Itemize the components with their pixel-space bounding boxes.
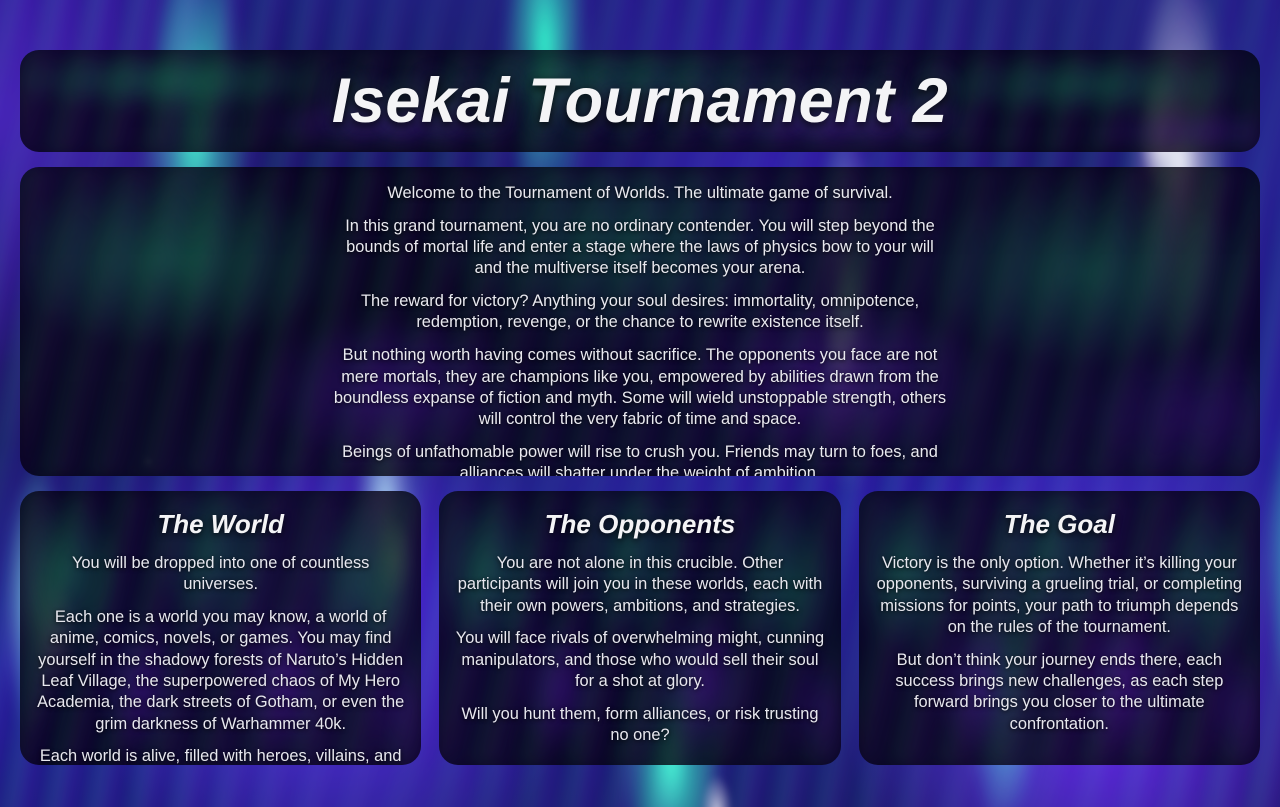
card-title: The World [157,509,284,540]
intro-panel: Welcome to the Tournament of Worlds. The… [20,167,1260,476]
card-paragraph: Will you hunt them, form alliances, or r… [453,704,826,747]
card-paragraph: But don’t think your journey ends there,… [873,650,1246,735]
intro-paragraph: The reward for victory? Anything your so… [332,291,948,334]
card-paragraph: Each one is a world you may know, a worl… [34,607,407,735]
intro-paragraph: Welcome to the Tournament of Worlds. The… [332,183,948,204]
card-title: The Goal [1004,509,1115,540]
card-the-opponents: The Opponents You are not alone in this … [439,491,840,765]
page-content: Isekai Tournament 2 Welcome to the Tourn… [0,0,1280,807]
card-paragraph: You are not alone in this crucible. Othe… [453,553,826,617]
header-panel: Isekai Tournament 2 [20,50,1260,152]
card-paragraph: You will be dropped into one of countles… [34,553,407,596]
page-title: Isekai Tournament 2 [332,65,948,137]
info-cards-row: The World You will be dropped into one o… [20,491,1260,765]
card-the-world: The World You will be dropped into one o… [20,491,421,765]
intro-paragraph: But nothing worth having comes without s… [332,345,948,430]
intro-paragraph: Beings of unfathomable power will rise t… [332,442,948,476]
card-the-goal: The Goal Victory is the only option. Whe… [859,491,1260,765]
card-paragraph: Each world is alive, filled with heroes,… [34,746,407,765]
intro-paragraph: In this grand tournament, you are no ord… [332,216,948,280]
card-paragraph: You will face rivals of overwhelming mig… [453,628,826,692]
card-title: The Opponents [545,509,736,540]
card-paragraph: Victory is the only option. Whether it’s… [873,553,1246,638]
